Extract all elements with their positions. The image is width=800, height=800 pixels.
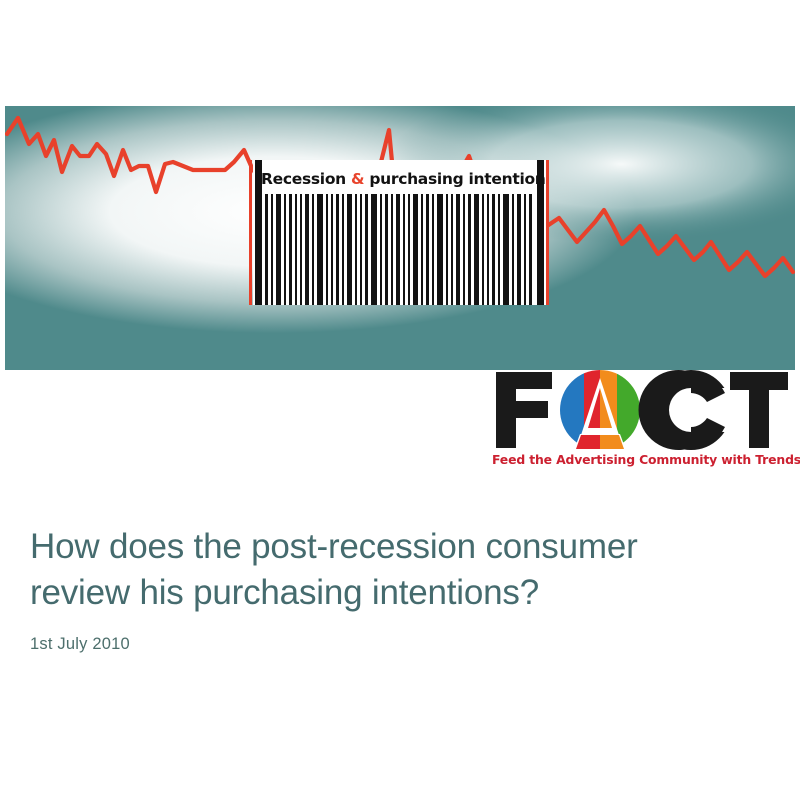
barcode-label-part2: purchasing intention	[364, 170, 545, 188]
fact-logo-tagline: Feed the Advertising Community with Tren…	[492, 452, 792, 467]
logo-letter-t	[730, 372, 788, 448]
page-title-line-1: How does the post-recession consumer	[30, 524, 770, 570]
fact-logo: Feed the Advertising Community with Tren…	[492, 368, 792, 480]
logo-letter-a-circle	[554, 368, 647, 452]
logo-letter-c	[639, 370, 737, 450]
title-slide: Recession & purchasing intention	[0, 0, 800, 800]
fact-logo-mark	[492, 368, 792, 452]
title-block: How does the post-recession consumer rev…	[30, 524, 770, 654]
barcode-label-ampersand: &	[351, 170, 364, 188]
barcode-label: Recession & purchasing intention	[261, 167, 543, 191]
logo-letter-f	[496, 372, 552, 448]
page-title: How does the post-recession consumer rev…	[30, 524, 770, 616]
barcode-label-part1: Recession	[261, 170, 351, 188]
page-title-line-2: review his purchasing intentions?	[30, 570, 770, 616]
barcode-graphic: Recession & purchasing intention	[245, 160, 555, 305]
slide-date: 1st July 2010	[30, 634, 770, 654]
hero-banner: Recession & purchasing intention	[5, 106, 795, 370]
